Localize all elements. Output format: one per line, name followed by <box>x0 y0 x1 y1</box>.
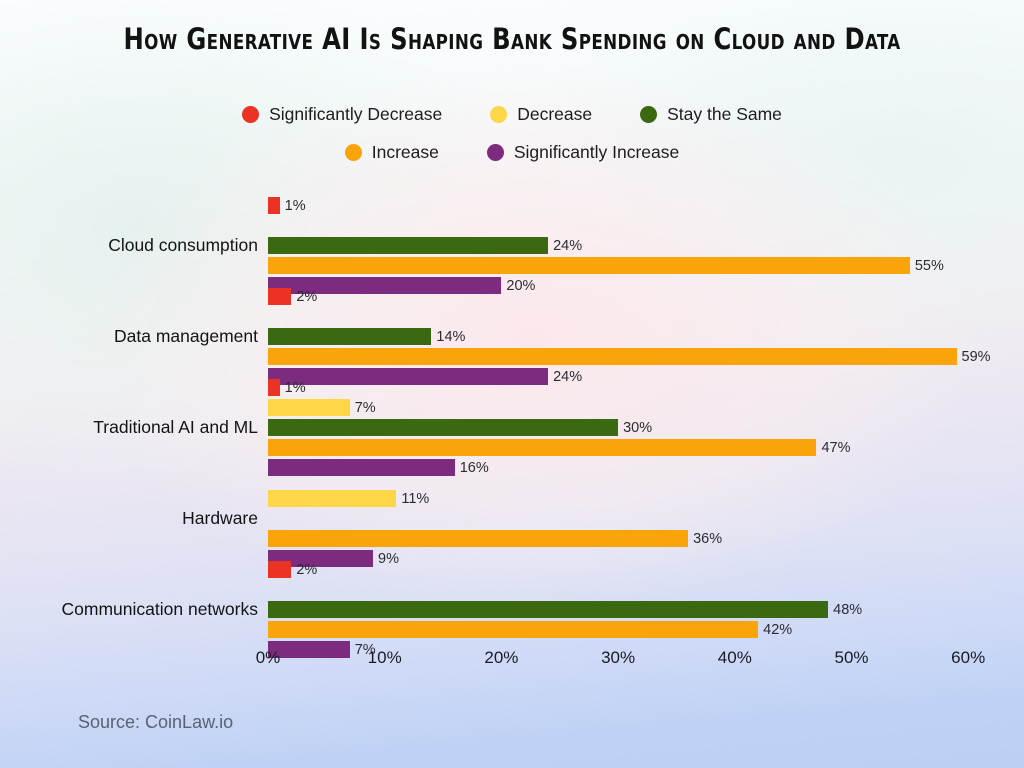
bar-value-label: 42% <box>758 622 792 638</box>
category-label: Traditional AI and ML <box>0 417 258 438</box>
bar-value-label: 24% <box>548 238 582 254</box>
bar[interactable] <box>268 561 291 578</box>
x-axis-tick-label: 0% <box>256 648 281 668</box>
bar[interactable] <box>268 621 758 638</box>
bar[interactable] <box>268 399 350 416</box>
bar-value-label: 1% <box>280 380 306 396</box>
bar[interactable] <box>268 530 688 547</box>
bar-value-label: 11% <box>396 491 429 507</box>
x-axis-tick-label: 60% <box>951 648 985 668</box>
bar[interactable] <box>268 328 431 345</box>
bar-value-label: 2% <box>291 562 317 578</box>
category-group: Communication networks2%48%42%7% <box>0 561 1024 658</box>
bar-value-label: 48% <box>828 602 862 618</box>
category-group: Hardware11%36%9% <box>0 470 1024 567</box>
category-label: Hardware <box>0 508 258 529</box>
bar-value-label: 55% <box>910 258 944 274</box>
source-caption: Source: CoinLaw.io <box>78 712 233 733</box>
bar[interactable] <box>268 348 957 365</box>
category-group: Traditional AI and ML1%7%30%47%16% <box>0 379 1024 476</box>
category-label: Communication networks <box>0 599 258 620</box>
bar[interactable] <box>268 237 548 254</box>
bar[interactable] <box>268 439 816 456</box>
x-axis-tick-label: 40% <box>718 648 752 668</box>
x-axis-tick-label: 10% <box>368 648 402 668</box>
bar-value-label: 30% <box>618 420 652 436</box>
bar[interactable] <box>268 490 396 507</box>
x-axis-tick-label: 30% <box>601 648 635 668</box>
bar-value-label: 59% <box>957 349 991 365</box>
bar[interactable] <box>268 257 910 274</box>
bar-value-label: 14% <box>431 329 465 345</box>
x-axis-tick-label: 20% <box>484 648 518 668</box>
x-axis-tick-label: 50% <box>834 648 868 668</box>
bar[interactable] <box>268 197 280 214</box>
bar-value-label: 1% <box>280 198 306 214</box>
bar-value-label: 7% <box>350 400 376 416</box>
category-group: Cloud consumption1%24%55%20% <box>0 197 1024 294</box>
category-group: Data management2%14%59%24% <box>0 288 1024 385</box>
bar-value-label: 2% <box>291 289 317 305</box>
bar[interactable] <box>268 288 291 305</box>
bar[interactable] <box>268 601 828 618</box>
chart-page: How Generative AI Is Shaping Bank Spendi… <box>0 0 1024 768</box>
bar[interactable] <box>268 379 280 396</box>
category-label: Cloud consumption <box>0 235 258 256</box>
bar-value-label: 36% <box>688 531 722 547</box>
bar-value-label: 47% <box>816 440 850 456</box>
category-label: Data management <box>0 326 258 347</box>
bar[interactable] <box>268 419 618 436</box>
